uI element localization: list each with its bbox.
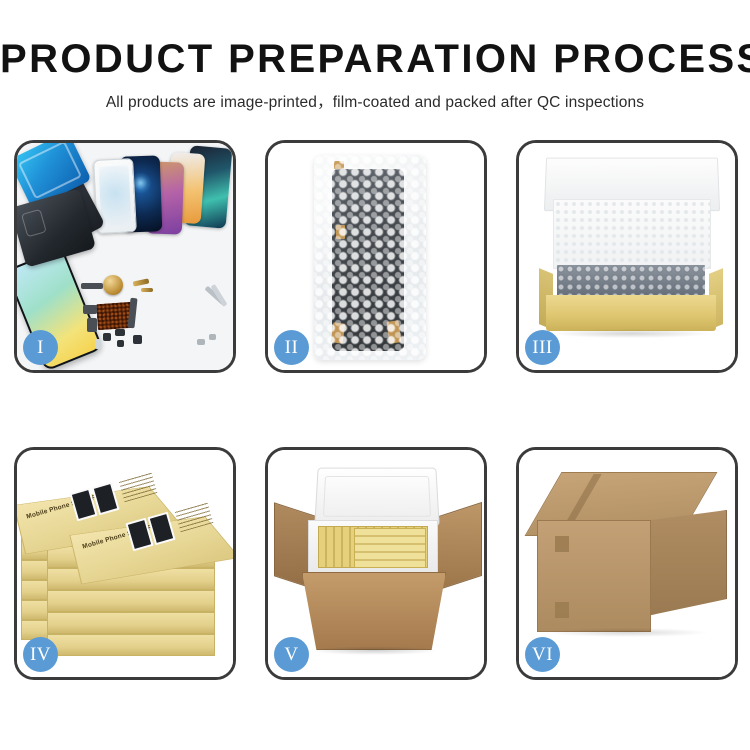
yellow-boxes-inside [354, 528, 426, 568]
step-badge-3: III [525, 330, 560, 365]
process-step-panel-1: I [14, 140, 236, 373]
process-step-panel-5: V [265, 447, 487, 680]
step-badge-2: II [274, 330, 309, 365]
carton-tape-mark [555, 536, 569, 552]
foam-sheet [553, 199, 711, 269]
spare-part [81, 283, 103, 289]
process-step-grid: I II III [14, 140, 738, 680]
drop-shadow [547, 628, 707, 637]
step-badge-6: VI [525, 637, 560, 672]
page-subtitle: All products are image-printed，film-coat… [0, 90, 750, 112]
spare-part [197, 339, 205, 345]
page-header: PRODUCT PREPARATION PROCESS All products… [0, 0, 750, 112]
bubble-texture-highlight [314, 155, 426, 360]
process-step-panel-2: II [265, 140, 487, 373]
stacked-box [47, 634, 215, 656]
spare-part [115, 329, 125, 336]
spare-part [103, 333, 111, 341]
box-front-kraft [546, 295, 716, 331]
carton-body [302, 572, 446, 650]
process-step-panel-4: Mobile Phone Spare Parts Mobile Phone Sp… [14, 447, 236, 680]
drop-shadow [553, 329, 709, 338]
step-6-image: VI [519, 450, 735, 677]
spare-part [133, 335, 142, 344]
step-3-image: III [519, 143, 735, 370]
gold-coil-part [103, 275, 123, 295]
step-1-image: I [17, 143, 233, 370]
stacked-box [47, 612, 215, 634]
stacked-box [47, 590, 215, 612]
process-step-panel-6: VI [516, 447, 738, 680]
step-2-image: II [268, 143, 484, 370]
carton-tape-mark [555, 602, 569, 618]
spare-part [95, 339, 101, 349]
spare-part [209, 334, 216, 340]
bubble-wrap-package [314, 155, 426, 360]
styrofoam-lid [314, 468, 440, 526]
drop-shadow [312, 646, 436, 655]
step-4-image: Mobile Phone Spare Parts Mobile Phone Sp… [17, 450, 233, 677]
spare-part [141, 288, 153, 292]
carton-side-face [647, 510, 727, 616]
page-title: PRODUCT PREPARATION PROCESS [0, 38, 750, 80]
step-badge-4: IV [23, 637, 58, 672]
step-badge-5: V [274, 637, 309, 672]
step-badge-1: I [23, 330, 58, 365]
spare-part [83, 305, 97, 314]
step-5-image: V [268, 450, 484, 677]
process-step-panel-3: III [516, 140, 738, 373]
spare-part [117, 340, 124, 347]
bubble-wrapped-contents [557, 265, 705, 297]
spare-part [87, 318, 97, 332]
